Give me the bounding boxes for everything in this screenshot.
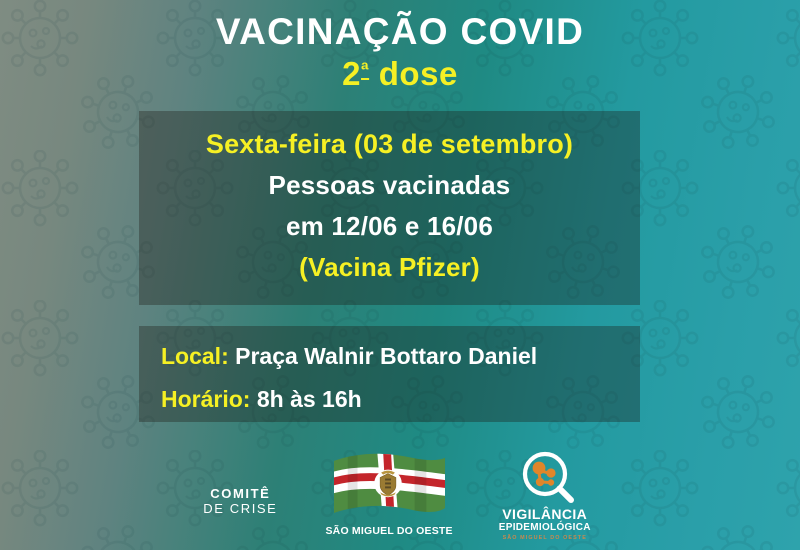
location-label: Local: xyxy=(161,343,229,369)
vaccine-type-line: (Vacina Pfizer) xyxy=(157,254,622,280)
vigilancia-line-3: SÃO MIGUEL DO OESTE xyxy=(503,535,587,541)
vigilancia-line-1: VIGILÂNCIA xyxy=(502,506,587,522)
comite-de-crise-logo: COMITÊ DE CRISE xyxy=(203,487,277,516)
primary-info-box: Sexta-feira (03 de setembro) Pessoas vac… xyxy=(139,111,640,305)
location-value: Praça Walnir Bottaro Daniel xyxy=(235,343,537,369)
flag-sao-miguel-do-oeste-icon xyxy=(330,451,448,524)
schedule-row: Horário: 8h às 16h xyxy=(161,388,640,411)
poster-canvas: VACINAÇÃO COVID 2ª dose Sexta-feira (03 … xyxy=(0,0,800,550)
schedule-label: Horário: xyxy=(161,386,250,412)
comite-line-2: DE CRISE xyxy=(203,502,277,517)
comite-line-1: COMITÊ xyxy=(210,487,270,502)
dose-subtitle: 2ª dose xyxy=(0,57,800,92)
sao-miguel-do-oeste-logo: SÃO MIGUEL DO OESTE xyxy=(325,451,452,538)
audience-line: Pessoas vacinadas xyxy=(157,172,622,213)
dose-word: dose xyxy=(369,55,458,92)
poster-header: VACINAÇÃO COVID 2ª dose xyxy=(0,0,800,92)
sao-miguel-caption: SÃO MIGUEL DO OESTE xyxy=(325,525,452,537)
schedule-value: 8h às 16h xyxy=(257,386,362,412)
poster-footer: COMITÊ DE CRISE xyxy=(0,446,800,542)
dose-ordinal-marker: ª xyxy=(361,58,369,81)
appointment-date-line: Sexta-feira (03 de setembro) xyxy=(157,127,622,172)
magnifying-glass-virus-icon xyxy=(493,449,597,505)
secondary-info-box: Local: Praça Walnir Bottaro Daniel Horár… xyxy=(139,326,640,422)
vigilancia-epidemiologica-logo: VIGILÂNCIA EPIDEMIOLÓGICA SÃO MIGUEL DO … xyxy=(493,447,597,541)
first-dose-dates-line: em 12/06 e 16/06 xyxy=(157,213,622,254)
location-row: Local: Praça Walnir Bottaro Daniel xyxy=(161,342,640,388)
vigilancia-line-2: EPIDEMIOLÓGICA xyxy=(499,522,591,533)
dose-number: 2 xyxy=(342,55,361,92)
page-title: VACINAÇÃO COVID xyxy=(0,12,800,52)
